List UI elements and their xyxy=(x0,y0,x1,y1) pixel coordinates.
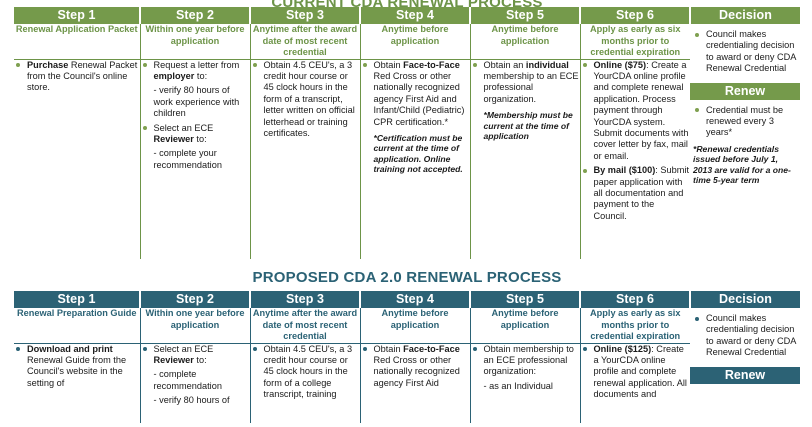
step-header-row: Step 1 Step 2 Step 3 Step 4 Step 5 Step … xyxy=(14,291,800,308)
text: Obtain xyxy=(374,60,404,70)
sub-header-5: Anytime before application xyxy=(470,308,580,343)
sub-note-2: - complete your recommendation xyxy=(141,148,250,171)
text: Red Cross or other nationally recognized… xyxy=(374,355,460,388)
sub-note-2: - verify 80 hours of xyxy=(141,395,250,406)
current-process-table: Step 1 Step 2 Step 3 Step 4 Step 5 Step … xyxy=(14,7,800,259)
step-header-5[interactable]: Step 5 xyxy=(470,7,580,24)
cell-step-5: Obtain an individual membership to an EC… xyxy=(470,59,580,259)
decision-column: Council makes credentialing decision to … xyxy=(690,308,800,423)
decision-body: Council makes credentialing decision to … xyxy=(690,24,800,83)
text: Request a letter from xyxy=(154,60,240,70)
cell-step-5: Obtain membership to an ECE professional… xyxy=(470,343,580,423)
cell-step-3: Obtain 4.5 CEU's, a 3 credit hour course… xyxy=(250,59,360,259)
list-item: Online ($75): Create a YourCDA online pr… xyxy=(581,60,691,163)
emphasis: Reviewer xyxy=(154,355,194,365)
section-title-proposed: PROPOSED CDA 2.0 RENEWAL PROCESS xyxy=(14,269,800,286)
renew-band: Renew xyxy=(690,367,800,384)
renew-body: Credential must be renewed every 3 years… xyxy=(690,100,800,191)
cell-step-2: Request a letter from employer to: - ver… xyxy=(140,59,250,259)
proposed-process-table: Step 1 Step 2 Step 3 Step 4 Step 5 Step … xyxy=(14,291,800,423)
renew-band: Renew xyxy=(690,83,800,100)
step-header-decision[interactable]: Decision xyxy=(690,291,800,308)
cell-step-4: Obtain Face-to-Face Red Cross or other n… xyxy=(360,343,470,423)
cell-step-6: Online ($75): Create a YourCDA online pr… xyxy=(580,59,690,259)
sub-header-4: Anytime before application xyxy=(360,308,470,343)
emphasis: Face-to-Face xyxy=(403,60,460,70)
step-header-3[interactable]: Step 3 xyxy=(250,291,360,308)
step-header-4[interactable]: Step 4 xyxy=(360,291,470,308)
sub-header-6: Apply as early as six months prior to cr… xyxy=(580,24,690,59)
list-item: Online ($125): Create a YourCDA online p… xyxy=(581,344,691,401)
list-item: Obtain an individual membership to an EC… xyxy=(471,60,580,106)
step-header-1[interactable]: Step 1 xyxy=(14,7,140,24)
cell-step-3: Obtain 4.5 CEU's, a 3 credit hour course… xyxy=(250,343,360,423)
list-item: Obtain 4.5 CEU's, a 3 credit hour course… xyxy=(251,60,360,140)
body-row: Download and print Renewal Guide from th… xyxy=(14,343,800,423)
step-header-decision[interactable]: Decision xyxy=(690,7,800,24)
footnote-membership: *Membership must be current at the time … xyxy=(471,110,580,141)
text: Obtain xyxy=(374,344,404,354)
list-item: Credential must be renewed every 3 years… xyxy=(693,105,796,139)
footnote-certification: *Certification must be current at the ti… xyxy=(361,133,470,175)
decision-body: Council makes credentialing decision to … xyxy=(690,308,800,367)
list-item: Obtain Face-to-Face Red Cross or other n… xyxy=(361,60,470,128)
sub-header-2: Within one year before application xyxy=(140,24,250,59)
step-header-4[interactable]: Step 4 xyxy=(360,7,470,24)
list-item: By mail ($100): Submit paper application… xyxy=(581,165,691,222)
step-header-6[interactable]: Step 6 xyxy=(580,7,690,24)
step-header-2[interactable]: Step 2 xyxy=(140,291,250,308)
emphasis: Reviewer xyxy=(154,134,194,144)
cell-step-1: Purchase Renewal Packet from the Council… xyxy=(14,59,140,259)
body-row: Purchase Renewal Packet from the Council… xyxy=(14,59,800,259)
list-item: Request a letter from employer to: xyxy=(141,60,250,83)
emphasis: Online ($125) xyxy=(594,344,652,354)
cell-step-4: Obtain Face-to-Face Red Cross or other n… xyxy=(360,59,470,259)
list-item: Obtain Face-to-Face Red Cross or other n… xyxy=(361,344,470,390)
cell-step-1: Download and print Renewal Guide from th… xyxy=(14,343,140,423)
renew-footnote: *Renewal credentials issued before July … xyxy=(693,144,796,186)
list-item: Obtain 4.5 CEU's, a 3 credit hour course… xyxy=(251,344,360,401)
sub-note-1: - complete recommendation xyxy=(141,369,250,392)
text: Obtain an xyxy=(484,60,526,70)
text: Select an ECE xyxy=(154,344,214,354)
cell-step-6: Online ($125): Create a YourCDA online p… xyxy=(580,343,690,423)
step-header-1[interactable]: Step 1 xyxy=(14,291,140,308)
emphasis: Download and print xyxy=(27,344,113,354)
emphasis: Face-to-Face xyxy=(403,344,460,354)
emphasis: By mail ($100) xyxy=(594,165,656,175)
text: Red Cross or other nationally recognized… xyxy=(374,71,465,127)
sub-note-1: - verify 80 hours of work experience wit… xyxy=(141,85,250,119)
emphasis: Online ($75) xyxy=(594,60,647,70)
sub-header-6: Apply as early as six months prior to cr… xyxy=(580,308,690,343)
list-item: Council makes credentialing decision to … xyxy=(693,29,796,75)
step-header-6[interactable]: Step 6 xyxy=(580,291,690,308)
list-item: Download and print Renewal Guide from th… xyxy=(14,344,140,390)
sub-header-1: Renewal Preparation Guide xyxy=(14,308,140,343)
list-item: Select an ECE Reviewer to: xyxy=(141,123,250,146)
cell-step-2: Select an ECE Reviewer to: - complete re… xyxy=(140,343,250,423)
text: : Create a YourCDA online profile and co… xyxy=(594,60,689,161)
step-header-5[interactable]: Step 5 xyxy=(470,291,580,308)
list-item: Purchase Renewal Packet from the Council… xyxy=(14,60,140,94)
renew-body xyxy=(690,384,800,394)
sub-header-3: Anytime after the award date of most rec… xyxy=(250,24,360,59)
text: to: xyxy=(194,71,207,81)
decision-column: Council makes credentialing decision to … xyxy=(690,24,800,259)
text: Select an ECE xyxy=(154,123,214,133)
sub-header-row: Renewal Preparation Guide Within one yea… xyxy=(14,308,800,343)
list-item: Council makes credentialing decision to … xyxy=(693,313,796,359)
text: membership to an ECE professional organi… xyxy=(484,71,579,104)
page-root: CURRENT CDA RENEWAL PROCESS Step 1 Step … xyxy=(0,0,812,427)
sub-header-5: Anytime before application xyxy=(470,24,580,59)
list-item: Select an ECE Reviewer to: xyxy=(141,344,250,367)
text: to: xyxy=(194,355,207,365)
emphasis: employer xyxy=(154,71,195,81)
sub-header-1: Renewal Application Packet xyxy=(14,24,140,59)
emphasis: Purchase xyxy=(27,60,68,70)
sub-note-1: - as an Individual xyxy=(471,381,580,392)
step-header-2[interactable]: Step 2 xyxy=(140,7,250,24)
sub-header-4: Anytime before application xyxy=(360,24,470,59)
sub-header-3: Anytime after the award date of most rec… xyxy=(250,308,360,343)
step-header-row: Step 1 Step 2 Step 3 Step 4 Step 5 Step … xyxy=(14,7,800,24)
emphasis: individual xyxy=(526,60,569,70)
text: Renewal Guide from the Council's website… xyxy=(27,355,126,388)
text: to: xyxy=(194,134,207,144)
sub-header-row: Renewal Application Packet Within one ye… xyxy=(14,24,800,59)
step-header-3[interactable]: Step 3 xyxy=(250,7,360,24)
list-item: Obtain membership to an ECE professional… xyxy=(471,344,580,378)
sub-header-2: Within one year before application xyxy=(140,308,250,343)
